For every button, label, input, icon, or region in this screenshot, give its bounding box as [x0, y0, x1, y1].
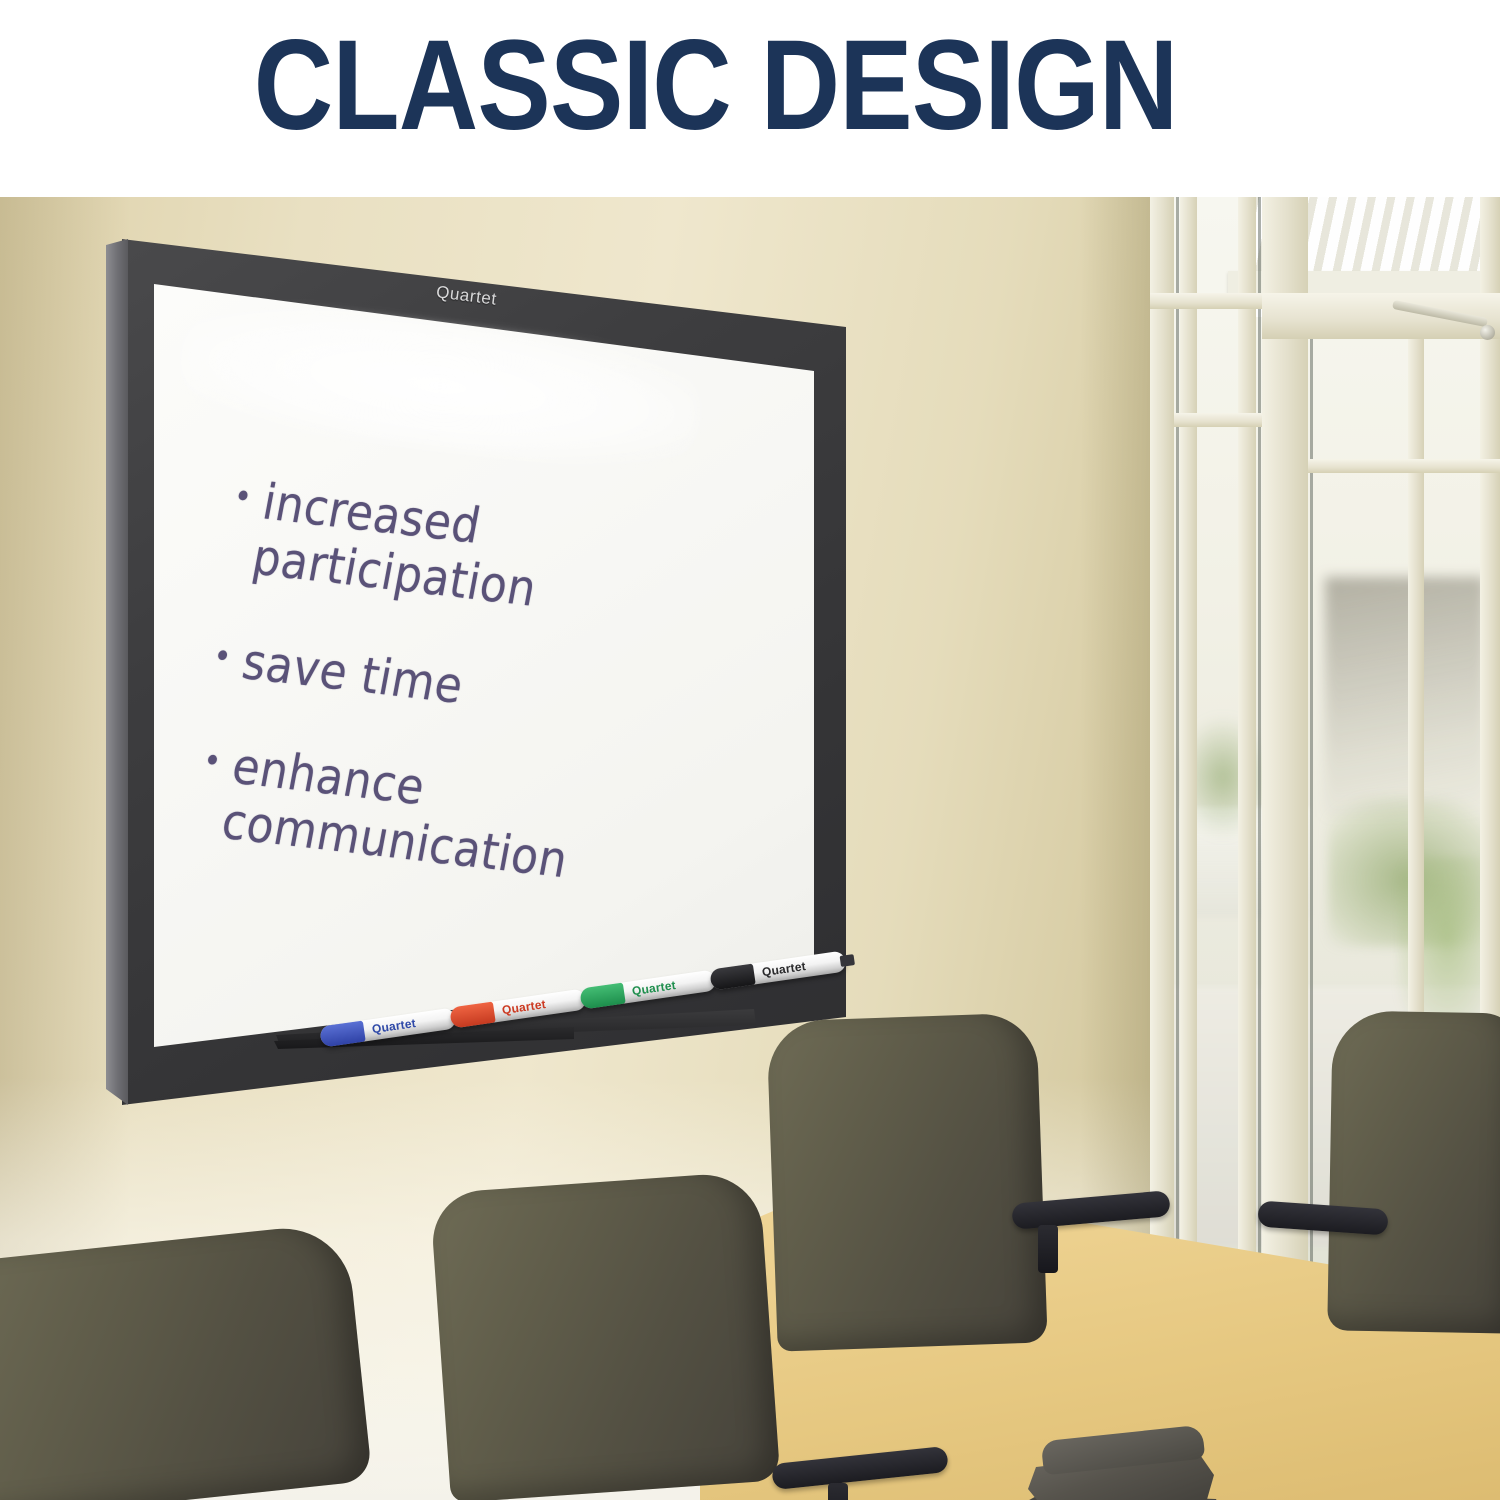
chair-backrest	[430, 1171, 781, 1500]
quartet-whiteboard[interactable]: Quartet • increased participation • save…	[106, 227, 846, 1107]
note-text: enhance communication	[217, 739, 724, 906]
chair-2[interactable]	[440, 1182, 770, 1492]
marker-brand-green: Quartet	[631, 978, 677, 998]
note-line-3: • enhance communication	[187, 736, 724, 906]
chair-4[interactable]	[1330, 1012, 1500, 1332]
chair-1[interactable]	[0, 1242, 360, 1500]
chair-backrest	[1327, 1010, 1500, 1333]
door-rail-mid	[1308, 459, 1500, 473]
marker-brand-blue: Quartet	[371, 1016, 417, 1036]
page-title: CLASSIC DESIGN	[71, 26, 1361, 146]
chair-2-arm-post	[828, 1483, 848, 1500]
conference-room-photo: Quartet • increased participation • save…	[0, 197, 1500, 1500]
marker-brand-red: Quartet	[501, 997, 547, 1017]
header-banner: CLASSIC DESIGN	[0, 0, 1500, 197]
marker-tip-black	[840, 954, 855, 967]
product-marketing-image: CLASSIC DESIGN	[0, 0, 1500, 1500]
door-closer-pivot	[1480, 325, 1495, 340]
chair-backrest	[0, 1222, 372, 1500]
marker-brand-black: Quartet	[761, 959, 807, 979]
window-rail-mid	[1174, 413, 1262, 427]
note-line-2: • save time	[208, 631, 735, 746]
patio-structure	[1325, 577, 1485, 817]
whiteboard-notes: • increased participation • save time • …	[185, 477, 750, 958]
bullet-icon: •	[229, 471, 257, 524]
bullet-icon: •	[199, 736, 227, 789]
window-rail-top	[1150, 293, 1262, 309]
chair-3-arm-post	[1038, 1225, 1058, 1273]
chair-backrest	[766, 1012, 1047, 1351]
note-text: save time	[238, 635, 468, 716]
chair-3[interactable]	[772, 1017, 1042, 1347]
